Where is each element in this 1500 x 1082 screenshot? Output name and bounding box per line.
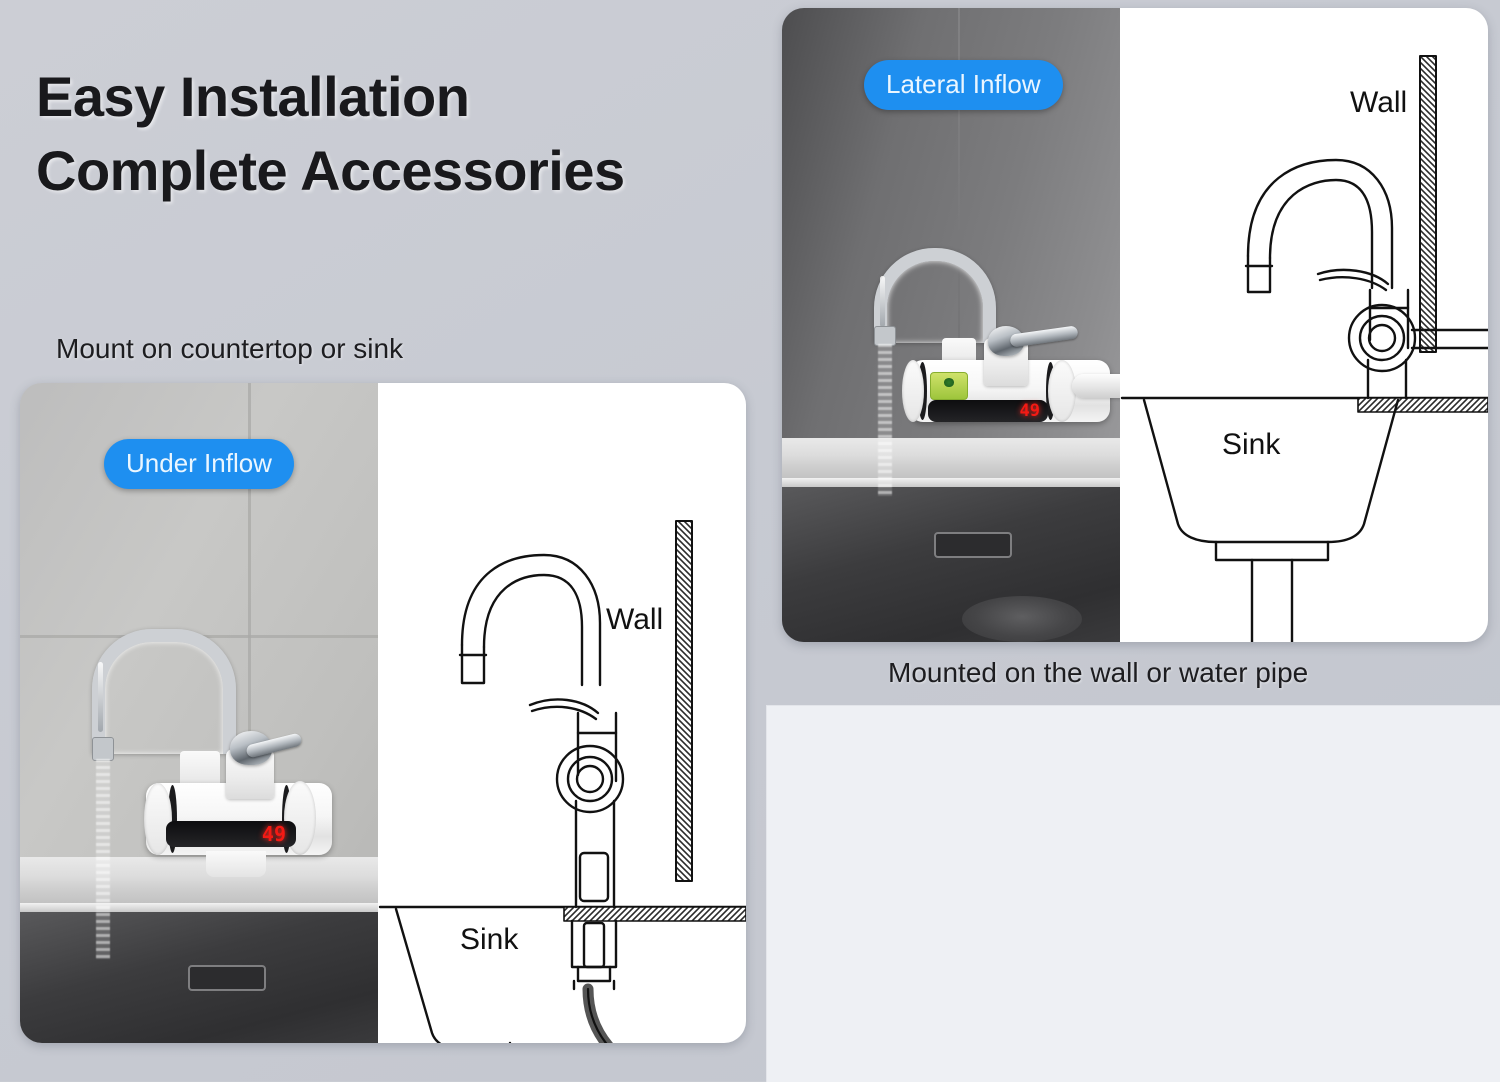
diagram-label-wall: Wall bbox=[1350, 86, 1407, 120]
countertop-surface bbox=[20, 857, 378, 909]
card-under-inflow: 49 Under Inflow bbox=[20, 383, 746, 1043]
badge-lateral-inflow: Lateral Inflow bbox=[864, 60, 1063, 110]
page-title-line-2: Complete Accessories bbox=[36, 134, 756, 208]
photo-lateral-inflow: 49 Lateral Inflow bbox=[782, 8, 1120, 642]
under-inflow-linework bbox=[378, 383, 746, 1043]
faucet-end-cap-left bbox=[902, 360, 924, 422]
temperature-display: 49 bbox=[928, 400, 1048, 422]
faucet-end-cap-right bbox=[1048, 360, 1076, 422]
lateral-inflow-linework bbox=[1120, 8, 1488, 642]
water-stream bbox=[878, 344, 892, 496]
faucet-spout-cap bbox=[92, 737, 114, 761]
diagram-under-inflow: Wall Sink bbox=[378, 383, 746, 1043]
sink-overflow-slot bbox=[188, 965, 266, 991]
sink-basin bbox=[782, 478, 1120, 642]
empty-content-panel bbox=[766, 705, 1500, 1082]
caption-wall: Mounted on the wall or water pipe bbox=[888, 657, 1308, 689]
diagram-lateral-inflow: Wall Sink bbox=[1120, 8, 1488, 642]
badge-under-inflow: Under Inflow bbox=[104, 439, 294, 489]
lateral-inlet-pipe bbox=[1072, 374, 1120, 398]
sink-basin bbox=[20, 903, 378, 1043]
diagram-label-wall: Wall bbox=[606, 603, 663, 637]
temperature-value: 49 bbox=[1020, 401, 1040, 421]
photo-under-inflow: 49 Under Inflow bbox=[20, 383, 378, 1043]
faucet-mount-base bbox=[206, 851, 266, 877]
page-title-line-1: Easy Installation bbox=[36, 60, 756, 134]
poster-canvas: Easy Installation Complete Accessories M… bbox=[0, 0, 1500, 1081]
diagram-label-sink: Sink bbox=[460, 923, 518, 957]
diagram-label-sink: Sink bbox=[1222, 428, 1280, 462]
temperature-display: 49 bbox=[166, 821, 296, 847]
page-title: Easy Installation Complete Accessories bbox=[36, 60, 756, 208]
sink-rim bbox=[20, 903, 378, 912]
temperature-value: 49 bbox=[262, 822, 286, 846]
water-stream bbox=[96, 759, 110, 959]
energy-label-sticker bbox=[930, 372, 968, 400]
card-lateral-inflow: 49 Lateral Inflow bbox=[782, 8, 1488, 642]
sink-rim bbox=[782, 478, 1120, 487]
faucet-gooseneck bbox=[92, 629, 236, 754]
sink-drain bbox=[962, 596, 1082, 642]
caption-countertop: Mount on countertop or sink bbox=[56, 333, 403, 365]
faucet-spout-cap bbox=[874, 326, 896, 346]
sink-overflow-slot bbox=[934, 532, 1012, 558]
